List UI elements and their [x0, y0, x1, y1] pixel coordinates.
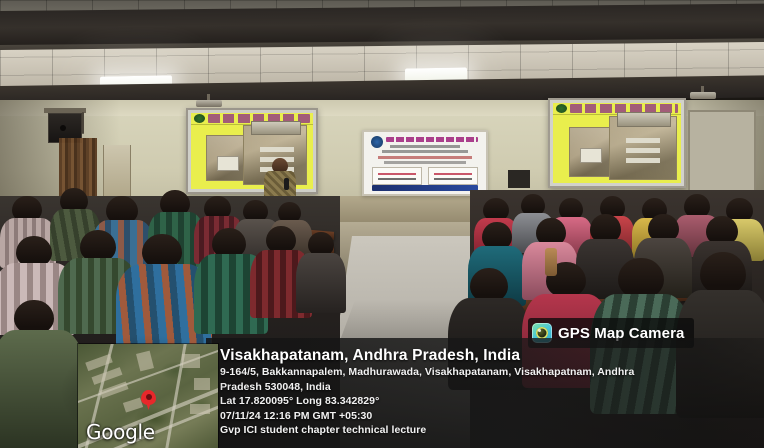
- map-pin-icon: [141, 390, 156, 405]
- hanging-cable: [82, 112, 84, 134]
- projection-screen-right: [548, 98, 686, 188]
- address-line-1: 9-164/5, Bakkannapalem, Madhurawada, Vis…: [220, 365, 758, 380]
- slide-content-right: [553, 103, 681, 183]
- location-info-panel: Visakhapatanam, Andhra Pradesh, India 9-…: [206, 338, 764, 448]
- map-building: [194, 378, 210, 390]
- location-title: Visakhapatanam, Andhra Pradesh, India: [220, 346, 758, 365]
- slide-photo-c-left: [251, 121, 301, 135]
- slide-logo-icon-right: [556, 104, 567, 113]
- wall-banner: [362, 130, 488, 196]
- banner-line-5: [384, 161, 466, 164]
- map-building: [182, 354, 200, 368]
- banner-college-logo-icon: [371, 136, 383, 148]
- map-building: [136, 351, 154, 372]
- banner-box-right: [428, 167, 478, 185]
- address-line-2: Pradesh 530048, India: [220, 380, 758, 395]
- audience-member: [298, 232, 344, 310]
- location-info-content: Visakhapatanam, Andhra Pradesh, India 9-…: [220, 346, 758, 438]
- banner-line-4: [378, 156, 472, 159]
- banner-line-3: [382, 150, 468, 153]
- slide-photo-c-right: [617, 112, 671, 127]
- map-building: [190, 404, 210, 414]
- banner-box-left: [372, 167, 422, 185]
- microphone-icon: [284, 178, 289, 190]
- banner-line-2: [390, 145, 460, 148]
- banner-footer-bar: [372, 185, 478, 191]
- projection-screen-left: [186, 108, 318, 194]
- ceiling-projector-left: [196, 100, 222, 107]
- banner-title-line: [386, 137, 478, 142]
- map-building: [85, 354, 113, 371]
- timestamp-line: 07/11/24 12:16 PM GMT +05:30: [220, 409, 758, 424]
- map-thumbnail[interactable]: Google: [78, 344, 218, 448]
- gps-map-camera-photo: GPS Map Camera Visakhapatanam, Andhra Pr…: [0, 0, 764, 448]
- note-line: Gvp ICI student chapter technical lectur…: [220, 423, 758, 438]
- whiteboard-right: [688, 110, 756, 192]
- ceiling-projector-right: [690, 92, 716, 99]
- coordinates-line: Lat 17.820095° Long 83.342829°: [220, 394, 758, 409]
- google-watermark: Google: [86, 420, 155, 444]
- wall-fixture-center: [508, 170, 530, 188]
- slide-logo-icon-left: [194, 114, 205, 123]
- map-building: [99, 381, 128, 398]
- water-bottle: [545, 248, 557, 276]
